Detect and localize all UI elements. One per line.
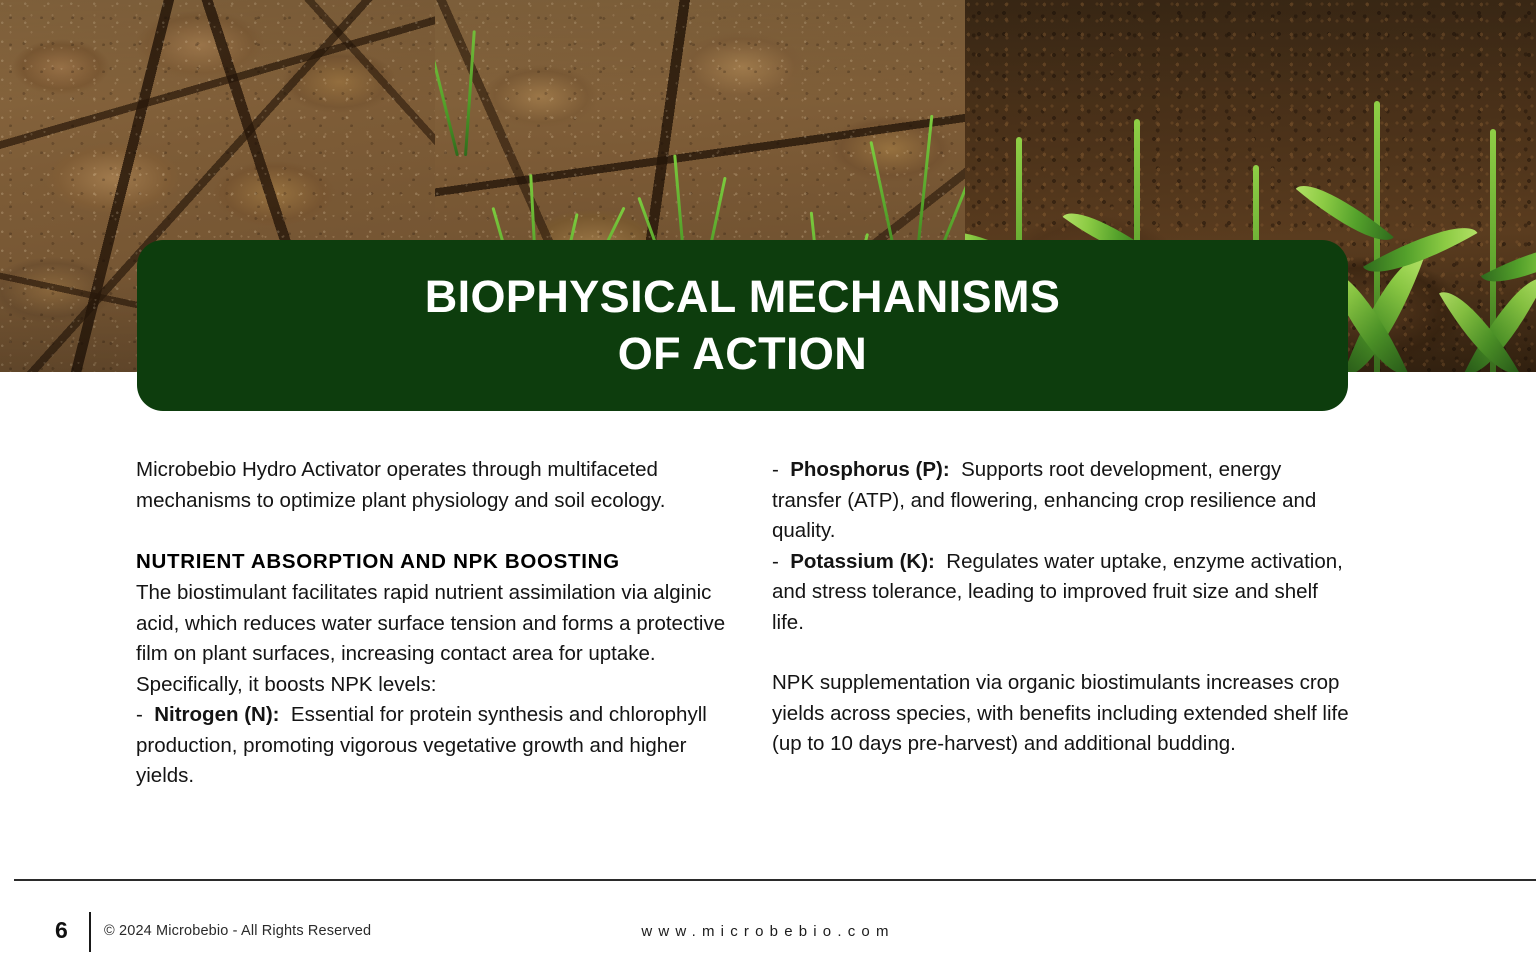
footer: 6 © 2024 Microbebio - All Rights Reserve… [0, 905, 1536, 965]
bullet-potassium: - Potassium (K): Regulates water uptake,… [772, 547, 1352, 639]
page-title: BIOPHYSICAL MECHANISMS OF ACTION [425, 269, 1061, 382]
bullet-phosphorus: - Phosphorus (P): Supports root developm… [772, 455, 1352, 547]
left-column: Microbebio Hydro Activator operates thro… [136, 455, 728, 792]
website-url: www.microbebio.com [0, 923, 1536, 940]
closing-paragraph: NPK supplementation via organic biostimu… [772, 668, 1352, 760]
body-content: Microbebio Hydro Activator operates thro… [0, 455, 1536, 855]
slide: BIOPHYSICAL MECHANISMS OF ACTION Microbe… [0, 0, 1536, 977]
intro-paragraph: Microbebio Hydro Activator operates thro… [136, 455, 728, 516]
bullet-marker: - [136, 703, 143, 726]
bullet-marker: - [772, 550, 779, 573]
title-banner: BIOPHYSICAL MECHANISMS OF ACTION [137, 240, 1348, 411]
section-heading-nutrient-absorption: NUTRIENT ABSORPTION AND NPK BOOSTING [136, 546, 728, 577]
section-body-paragraph: The biostimulant facilitates rapid nutri… [136, 578, 728, 700]
right-column: - Phosphorus (P): Supports root developm… [772, 455, 1352, 760]
bullet-nitrogen: - Nitrogen (N): Essential for protein sy… [136, 700, 728, 792]
bullet-term: Nitrogen (N): [154, 703, 279, 726]
bullet-term: Phosphorus (P): [790, 458, 949, 481]
bullet-marker: - [772, 458, 779, 481]
footer-divider-rule [14, 879, 1536, 881]
bullet-term: Potassium (K): [790, 550, 935, 573]
